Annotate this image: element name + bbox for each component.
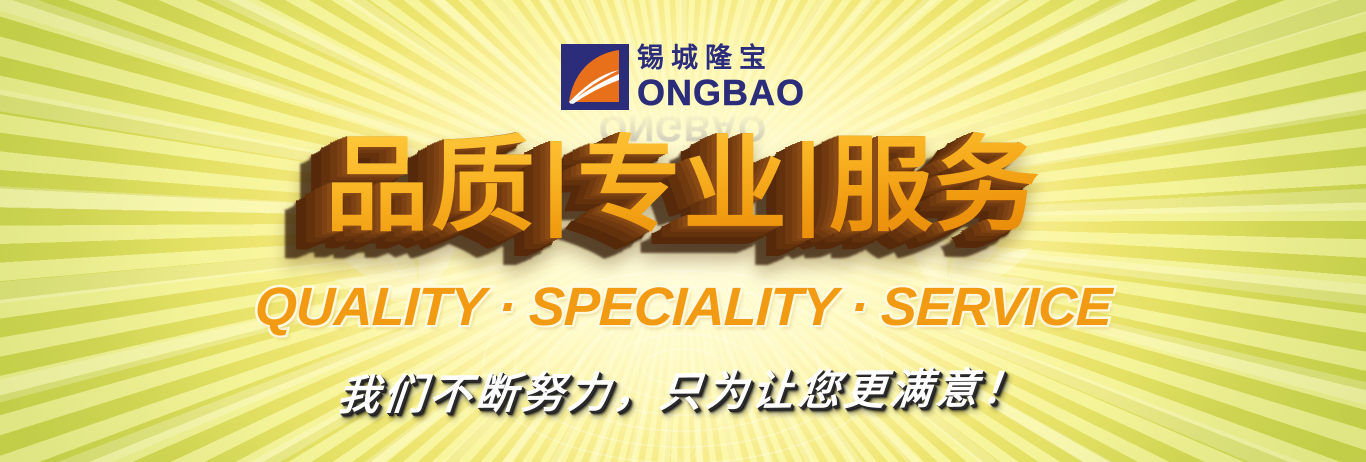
headline-text: 品质|专业|服务: [325, 132, 1041, 238]
promotional-banner: ONGBAO 锡城隆宝 ONGBAO 品质|专业|服务 QU: [0, 0, 1366, 462]
chinese-slogan-text: 我们不断努力，只为让您更满意！: [335, 354, 1032, 422]
headline-3d: 品质|专业|服务: [0, 132, 1366, 238]
logo-company-name-cn: 锡城隆宝: [637, 45, 805, 72]
brand-logo[interactable]: 锡城隆宝 ONGBAO: [0, 44, 1366, 111]
english-tagline-text: QUALITY · SPECIALITY · SERVICE: [254, 276, 1112, 338]
logo-company-name-en: ONGBAO: [637, 75, 805, 111]
chinese-slogan: 我们不断努力，只为让您更满意！: [0, 358, 1366, 419]
longbao-sail-mark-icon: [561, 44, 629, 110]
english-tagline: QUALITY · SPECIALITY · SERVICE: [0, 276, 1366, 338]
